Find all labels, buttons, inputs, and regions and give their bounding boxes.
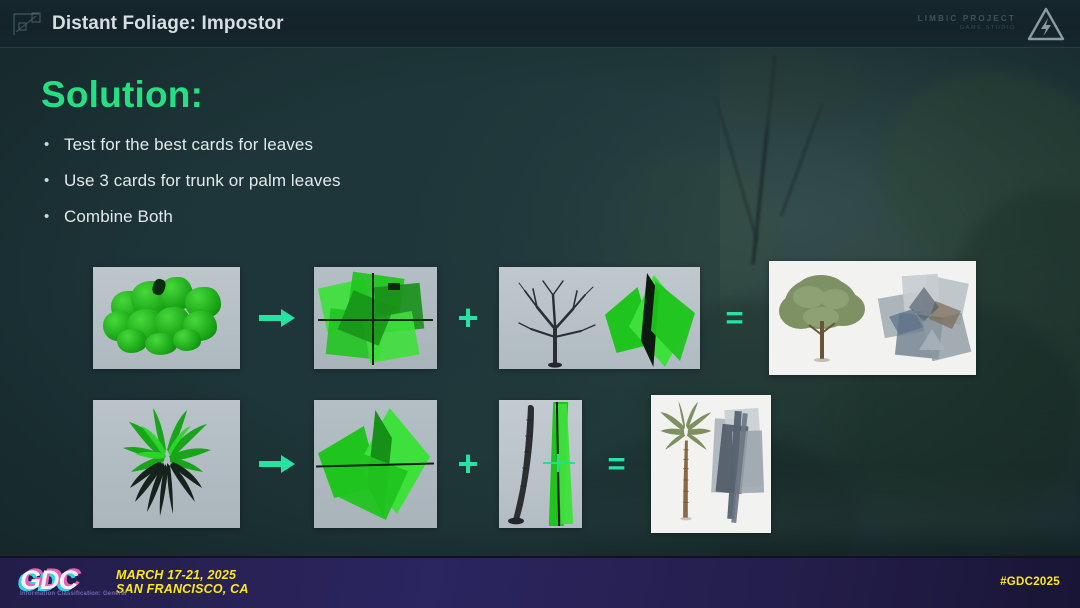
slide-body: Solution: • Test for the best cards for … [0, 48, 1080, 556]
bullet-text: Use 3 cards for trunk or palm leaves [64, 170, 341, 192]
equals-operator: = [582, 400, 651, 528]
trunk-branches-and-cards-thumb [499, 267, 700, 369]
list-item: • Test for the best cards for leaves [44, 134, 604, 156]
bullet-marker: • [44, 206, 64, 228]
footer-top-rule [0, 556, 1080, 558]
gdc-logo-tagline: Information Classification: General [20, 591, 127, 597]
header-brand: LIMBIC PROJECT GAME STUDIO [918, 6, 1066, 42]
event-dates-line2: SAN FRANCISCO, CA [116, 582, 249, 596]
event-dates: MARCH 17-21, 2025 SAN FRANCISCO, CA [116, 568, 249, 596]
page-title: Distant Foliage: Impostor [52, 13, 284, 35]
arrow-operator [240, 267, 314, 369]
brand-wordmark-sub: GAME STUDIO [918, 25, 1016, 32]
palm-trunk-and-card-thumb [499, 400, 582, 528]
figure-row-palm: + = [93, 395, 771, 533]
bullet-marker: • [44, 170, 64, 192]
equals-operator: = [700, 267, 769, 369]
arrow-right-icon [257, 452, 297, 476]
slide-mark-icon [12, 11, 42, 37]
event-hashtag: #GDC2025 [1000, 576, 1060, 588]
leaf-cluster-source-thumb [93, 267, 240, 369]
combined-palm-impostor-thumb [651, 395, 771, 533]
palm-crown-illustration [93, 400, 240, 528]
brand-wordmark: LIMBIC PROJECT GAME STUDIO [918, 14, 1016, 32]
triangle-bolt-logo-icon [1026, 6, 1066, 42]
list-item: • Combine Both [44, 206, 604, 228]
bullet-list: • Test for the best cards for leaves • U… [44, 134, 604, 242]
event-dates-line1: MARCH 17-21, 2025 [116, 568, 249, 582]
plus-operator: + [437, 400, 499, 528]
bullet-marker: • [44, 134, 64, 156]
combined-tree-impostor-thumb [769, 261, 976, 375]
arrow-operator [240, 400, 314, 528]
arrow-right-icon [257, 306, 297, 330]
textured-palm-illustration [655, 399, 715, 529]
textured-tree-illustration [773, 261, 873, 375]
palm-frond-cards-thumb [314, 400, 437, 528]
leaf-cards-thumb [314, 267, 437, 369]
list-item: • Use 3 cards for trunk or palm leaves [44, 170, 604, 192]
figure-row-leaves: + [93, 261, 976, 375]
gdc-logo: GDC GDC GDC Information Classification: … [20, 565, 100, 599]
bullet-text: Test for the best cards for leaves [64, 134, 313, 156]
section-heading: Solution: [41, 74, 203, 116]
slide-header: Distant Foliage: Impostor LIMBIC PROJECT… [0, 0, 1080, 48]
brand-wordmark-main: LIMBIC PROJECT [918, 14, 1016, 25]
slide-footer: GDC GDC GDC Information Classification: … [0, 556, 1080, 608]
bare-tree-illustration [505, 267, 605, 369]
gdc-logo-white-layer: GDC [20, 567, 77, 594]
plus-operator: + [437, 267, 499, 369]
bullet-text: Combine Both [64, 206, 173, 228]
palm-fronds-source-thumb [93, 400, 240, 528]
